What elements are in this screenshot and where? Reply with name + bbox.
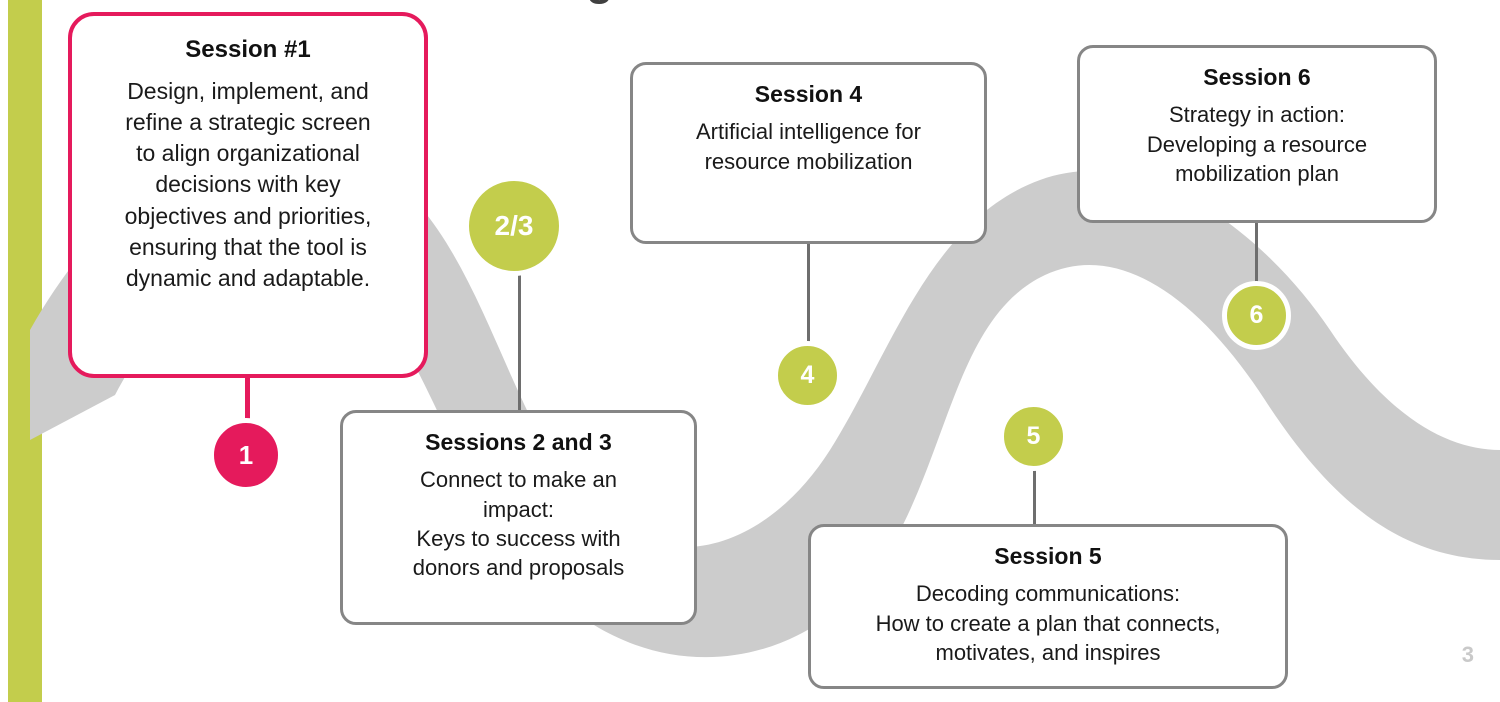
card-session-6[interactable]: Session 6 Strategy in action: Developing… xyxy=(1077,45,1437,223)
marker-label-2-3: 2/3 xyxy=(495,212,534,240)
card-body-session-5: Decoding communications: How to create a… xyxy=(825,579,1271,667)
card-title-session-4: Session 4 xyxy=(647,81,970,107)
card-title-session-1: Session #1 xyxy=(86,36,410,64)
card-title-session-6: Session 6 xyxy=(1094,64,1420,90)
marker-session-4[interactable]: 4 xyxy=(773,341,842,410)
card-session-5[interactable]: Session 5 Decoding communications: How t… xyxy=(808,524,1288,689)
marker-sessions-2-3[interactable]: 2/3 xyxy=(464,176,564,276)
card-title-sessions-2-3: Sessions 2 and 3 xyxy=(357,429,680,455)
card-session-4[interactable]: Session 4 Artificial intelligence for re… xyxy=(630,62,987,244)
connector-session-4 xyxy=(807,242,810,352)
marker-session-1[interactable]: 1 xyxy=(209,418,283,492)
marker-label-1: 1 xyxy=(239,442,253,468)
marker-label-4: 4 xyxy=(801,363,815,388)
card-body-sessions-2-3: Connect to make an impact: Keys to succe… xyxy=(357,465,680,582)
card-title-session-5: Session 5 xyxy=(825,543,1271,569)
card-body-session-4: Artificial intelligence for resource mob… xyxy=(647,117,970,176)
marker-label-6: 6 xyxy=(1250,303,1264,328)
page-number: 3 xyxy=(1462,642,1474,668)
card-session-1[interactable]: Session #1 Design, implement, and refine… xyxy=(68,12,428,378)
connector-session-5 xyxy=(1033,470,1036,526)
marker-session-6[interactable]: 6 xyxy=(1222,281,1291,350)
card-body-session-6: Strategy in action: Developing a resourc… xyxy=(1094,100,1420,188)
card-body-session-1: Design, implement, and refine a strategi… xyxy=(86,76,410,295)
marker-session-5[interactable]: 5 xyxy=(999,402,1068,471)
slide-canvas: g Session #1 Design, implement, and refi… xyxy=(0,0,1500,702)
card-sessions-2-3[interactable]: Sessions 2 and 3 Connect to make an impa… xyxy=(340,410,697,625)
marker-label-5: 5 xyxy=(1027,424,1041,449)
